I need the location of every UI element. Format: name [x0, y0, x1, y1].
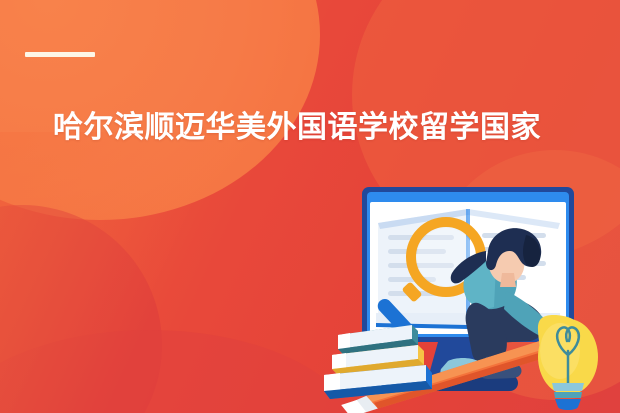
promo-banner: 哈尔滨顺迈华美外国语学校留学国家	[0, 0, 620, 413]
book-stack-icon	[324, 325, 432, 399]
study-abroad-illustration	[320, 175, 620, 413]
decorative-diagonal-wash	[0, 132, 330, 413]
lightbulb-icon	[538, 315, 598, 410]
accent-rule	[25, 52, 95, 57]
page-title: 哈尔滨顺迈华美外国语学校留学国家	[53, 108, 598, 148]
